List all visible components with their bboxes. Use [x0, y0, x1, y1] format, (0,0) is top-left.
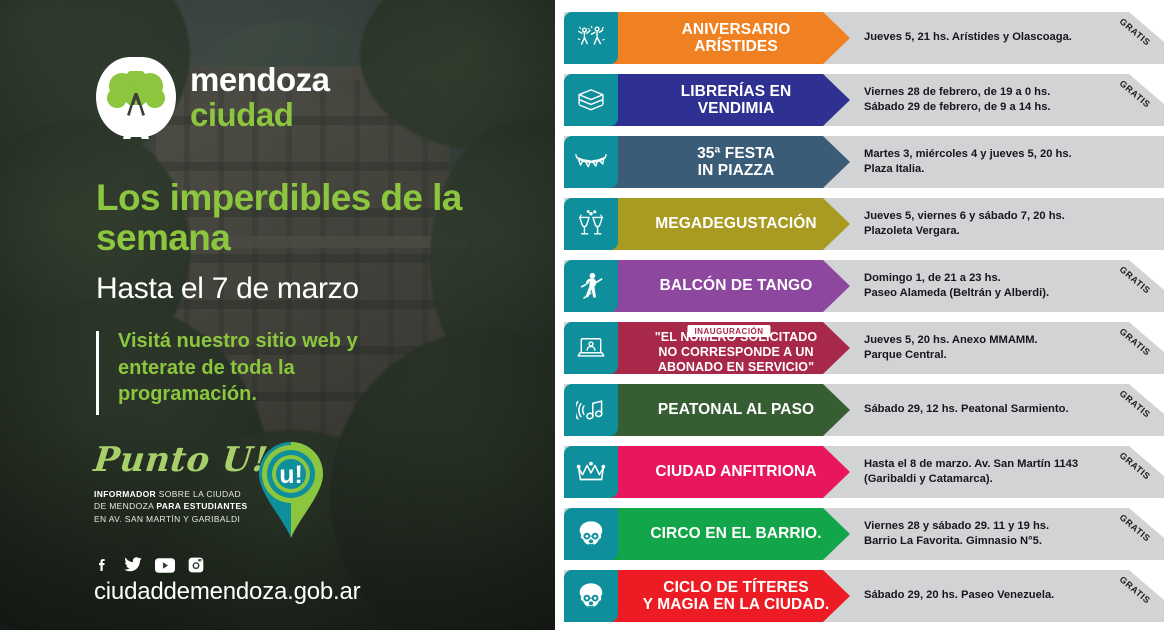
- event-detail-line: Plaza Italia.: [864, 162, 1129, 177]
- event-detail-text: Jueves 5, 21 hs. Arístides y Olascoaga.: [864, 12, 1129, 64]
- event-icon-box: [564, 260, 618, 312]
- bunting-flags-icon: [575, 151, 607, 173]
- event-detail-line: Parque Central.: [864, 348, 1129, 363]
- event-row[interactable]: GRATISANIVERSARIOARÍSTIDESJueves 5, 21 h…: [564, 12, 1164, 64]
- page-subtitle: Hasta el 7 de marzo: [96, 272, 516, 305]
- event-detail-text: Martes 3, miércoles 4 y jueves 5, 20 hs.…: [864, 136, 1129, 188]
- event-detail-line: Barrio La Favorita. Gimnasio N°5.: [864, 534, 1129, 549]
- event-detail-line: Viernes 28 de febrero, de 19 a 0 hs.: [864, 85, 1129, 100]
- website-callout: Visitá nuestro sitio web y enterate de t…: [96, 328, 426, 408]
- event-title-chevron[interactable]: CICLO DE TÍTERESY MAGIA EN LA CIUDAD.: [608, 570, 850, 622]
- event-row[interactable]: GRATISCIRCO EN EL BARRIO.Viernes 28 y sá…: [564, 508, 1164, 560]
- event-icon-box: [564, 384, 618, 436]
- event-detail-text: Sábado 29, 12 hs. Peatonal Sarmiento.: [864, 384, 1129, 436]
- event-title: BALCÓN DE TANGO: [660, 277, 813, 294]
- punto-u-line2-bold: PARA ESTUDIANTES: [156, 501, 247, 511]
- youtube-icon[interactable]: [155, 558, 175, 573]
- brand-logo: mendoza ciudad: [96, 57, 330, 137]
- poster-root: mendoza ciudad Los imperdibles de la sem…: [0, 0, 1170, 630]
- event-title-chevron[interactable]: MEGADEGUSTACIÓN: [608, 198, 850, 250]
- event-title: CICLO DE TÍTERESY MAGIA EN LA CIUDAD.: [643, 579, 830, 614]
- event-icon-box: [564, 508, 618, 560]
- event-title: PEATONAL AL PASO: [658, 401, 814, 418]
- event-detail-line: Sábado 29, 20 hs. Paseo Venezuela.: [864, 588, 1129, 603]
- event-title-chevron[interactable]: LIBRERÍAS ENVENDIMIA: [608, 74, 850, 126]
- clown-face-icon: [576, 519, 606, 549]
- map-pin-icon: u!: [255, 440, 327, 540]
- event-detail-text: Viernes 28 y sábado 29. 11 y 19 hs.Barri…: [864, 508, 1129, 560]
- event-detail-line: (Garibaldi y Catamarca).: [864, 472, 1129, 487]
- tree-glyph: [107, 71, 165, 121]
- event-detail-line: Sábado 29 de febrero, de 9 a 14 hs.: [864, 100, 1129, 115]
- event-icon-box: [564, 446, 618, 498]
- event-row[interactable]: MEGADEGUSTACIÓNJueves 5, viernes 6 y sáb…: [564, 198, 1164, 250]
- tango-dancers-icon: [577, 271, 605, 301]
- event-icon-box: [564, 198, 618, 250]
- punto-u-description: INFORMADOR SOBRE LA CIUDAD DE MENDOZA PA…: [94, 488, 259, 525]
- logo-text-mendoza: mendoza: [190, 63, 330, 96]
- event-detail-line: Paseo Alameda (Beltrán y Alberdi).: [864, 286, 1129, 301]
- pin-label: u!: [279, 461, 303, 489]
- event-title-chevron[interactable]: CIUDAD ANFITRIONA: [608, 446, 850, 498]
- event-detail-text: Viernes 28 de febrero, de 19 a 0 hs.Sába…: [864, 74, 1129, 126]
- event-title-chevron[interactable]: 35ª FESTAIN PIAZZA: [608, 136, 850, 188]
- event-title: CIUDAD ANFITRIONA: [655, 463, 816, 480]
- event-detail-text: Hasta el 8 de marzo. Av. San Martín 1143…: [864, 446, 1129, 498]
- logo-text-ciudad: ciudad: [190, 98, 330, 131]
- event-title-chevron[interactable]: PEATONAL AL PASO: [608, 384, 850, 436]
- event-title-chevron[interactable]: INAUGURACIÓN"EL NÚMERO SOLICITADONO CORR…: [608, 322, 850, 374]
- event-detail-line: Jueves 5, 20 hs. Anexo MMAMM.: [864, 333, 1129, 348]
- event-detail-line: Hasta el 8 de marzo. Av. San Martín 1143: [864, 457, 1129, 472]
- promo-panel: mendoza ciudad Los imperdibles de la sem…: [0, 0, 555, 630]
- event-detail-text: Domingo 1, de 21 a 23 hs.Paseo Alameda (…: [864, 260, 1129, 312]
- toasting-glasses-icon: [576, 209, 606, 239]
- event-title: "EL NÚMERO SOLICITADONO CORRESPONDE A UN…: [655, 330, 817, 374]
- event-title: ANIVERSARIOARÍSTIDES: [682, 21, 791, 56]
- website-callout-text: Visitá nuestro sitio web y enterate de t…: [118, 328, 426, 408]
- event-detail-line: Jueves 5, viernes 6 y sábado 7, 20 hs.: [864, 209, 1129, 224]
- music-note-waves-icon: [576, 397, 606, 423]
- event-icon-box: [564, 12, 618, 64]
- accent-rule: [96, 331, 99, 415]
- social-links[interactable]: [95, 557, 204, 573]
- punto-u-wordmark: Punto U!: [92, 440, 270, 480]
- event-icon-box: [564, 74, 618, 126]
- event-detail-line: Plazoleta Vergara.: [864, 224, 1129, 239]
- event-title-chevron[interactable]: BALCÓN DE TANGO: [608, 260, 850, 312]
- twitter-icon[interactable]: [124, 557, 142, 573]
- event-detail-line: Viernes 28 y sábado 29. 11 y 19 hs.: [864, 519, 1129, 534]
- website-url[interactable]: ciudaddemendoza.gob.ar: [94, 578, 360, 606]
- event-row[interactable]: GRATISINAUGURACIÓN"EL NÚMERO SOLICITADON…: [564, 322, 1164, 374]
- instagram-icon[interactable]: [188, 557, 204, 573]
- crown-icon: [576, 460, 606, 484]
- laptop-person-icon: [576, 335, 606, 361]
- event-icon-box: [564, 136, 618, 188]
- event-detail-line: Jueves 5, 21 hs. Arístides y Olascoaga.: [864, 30, 1129, 45]
- event-detail-line: Martes 3, miércoles 4 y jueves 5, 20 hs.: [864, 147, 1129, 162]
- event-row[interactable]: GRATISBALCÓN DE TANGODomingo 1, de 21 a …: [564, 260, 1164, 312]
- event-icon-box: [564, 570, 618, 622]
- event-badge: INAUGURACIÓN: [687, 325, 770, 337]
- event-row[interactable]: GRATISCIUDAD ANFITRIONAHasta el 8 de mar…: [564, 446, 1164, 498]
- event-detail-text: Jueves 5, 20 hs. Anexo MMAMM.Parque Cent…: [864, 322, 1129, 374]
- event-icon-box: [564, 322, 618, 374]
- events-list: GRATISANIVERSARIOARÍSTIDESJueves 5, 21 h…: [555, 0, 1170, 630]
- clown-face-icon: [576, 581, 606, 611]
- books-stack-icon: [576, 86, 606, 114]
- event-detail-text: Jueves 5, viernes 6 y sábado 7, 20 hs.Pl…: [864, 198, 1129, 250]
- event-row[interactable]: GRATISLIBRERÍAS ENVENDIMIAViernes 28 de …: [564, 74, 1164, 126]
- punto-u-block: Punto U! INFORMADOR SOBRE LA CIUDAD DE M…: [92, 440, 352, 550]
- facebook-icon[interactable]: [95, 557, 111, 573]
- punto-u-line3: EN AV. SAN MARTÍN Y GARIBALDI: [94, 513, 259, 525]
- event-row[interactable]: 35ª FESTAIN PIAZZAMartes 3, miércoles 4 …: [564, 136, 1164, 188]
- punto-u-line1-rest: SOBRE LA CIUDAD: [156, 489, 241, 499]
- page-title: Los imperdibles de la semana: [96, 178, 516, 258]
- event-title-chevron[interactable]: CIRCO EN EL BARRIO.: [608, 508, 850, 560]
- event-title: CIRCO EN EL BARRIO.: [650, 525, 821, 542]
- event-title: 35ª FESTAIN PIAZZA: [697, 145, 775, 180]
- event-detail-line: Domingo 1, de 21 a 23 hs.: [864, 271, 1129, 286]
- punto-u-line1-bold: INFORMADOR: [94, 489, 156, 499]
- event-title-chevron[interactable]: ANIVERSARIOARÍSTIDES: [608, 12, 850, 64]
- event-row[interactable]: GRATISPEATONAL AL PASOSábado 29, 12 hs. …: [564, 384, 1164, 436]
- event-detail-text: Sábado 29, 20 hs. Paseo Venezuela.: [864, 570, 1129, 622]
- mendoza-tree-m-logo-icon: [96, 57, 176, 137]
- event-detail-line: Sábado 29, 12 hs. Peatonal Sarmiento.: [864, 402, 1129, 417]
- dancing-people-icon: [576, 23, 606, 53]
- punto-u-line2-rest: DE MENDOZA: [94, 501, 156, 511]
- event-title: LIBRERÍAS ENVENDIMIA: [681, 83, 792, 118]
- event-title: MEGADEGUSTACIÓN: [655, 215, 816, 232]
- event-row[interactable]: GRATISCICLO DE TÍTERESY MAGIA EN LA CIUD…: [564, 570, 1164, 622]
